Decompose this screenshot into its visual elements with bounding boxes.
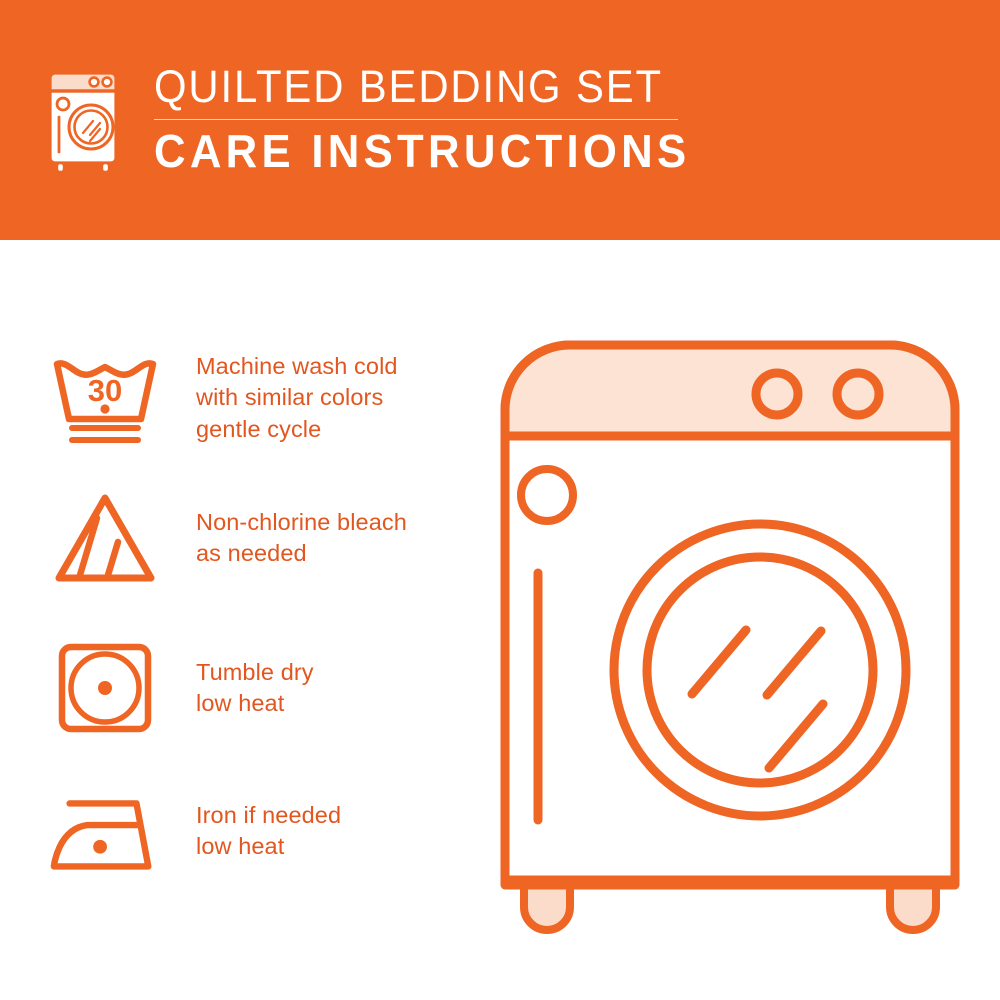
list-item-label: Non-chlorine bleach as needed <box>196 507 407 570</box>
list-item-label: Iron if needed low heat <box>196 800 341 863</box>
control-panel <box>505 345 955 436</box>
title-divider <box>154 119 678 120</box>
knob-right <box>837 373 879 415</box>
wash-temperature-value: 30 <box>88 373 122 408</box>
header-banner: QUILTED BEDDING SET CARE INSTRUCTIONS <box>0 0 1000 240</box>
list-item-label: Tumble dry low heat <box>196 657 314 720</box>
page-title: QUILTED BEDDING SET <box>154 64 679 111</box>
washer-door <box>614 524 906 816</box>
list-item: Iron if needed low heat <box>46 785 341 877</box>
header-text-block: QUILTED BEDDING SET CARE INSTRUCTIONS <box>154 64 719 177</box>
knob-left <box>756 373 798 415</box>
washing-machine-illustration <box>480 320 980 940</box>
instruction-list: 30 Machine wash cold with similar colors… <box>0 240 470 1000</box>
page-subtitle: CARE INSTRUCTIONS <box>154 128 690 176</box>
bleach-triangle-icon <box>46 490 164 586</box>
iron-low-heat-icon <box>46 785 164 877</box>
list-item: Non-chlorine bleach as needed <box>46 490 407 586</box>
care-instructions-page: QUILTED BEDDING SET CARE INSTRUCTIONS 30… <box>0 0 1000 1000</box>
washing-machine-icon <box>44 67 128 175</box>
list-item: 30 Machine wash cold with similar colors… <box>46 345 398 451</box>
indicator-light <box>521 469 573 521</box>
wash-tub-30-icon: 30 <box>46 345 164 451</box>
list-item-label: Machine wash cold with similar colors ge… <box>196 351 398 445</box>
list-item: Tumble dry low heat <box>46 635 314 741</box>
tumble-dry-low-icon <box>46 635 164 741</box>
